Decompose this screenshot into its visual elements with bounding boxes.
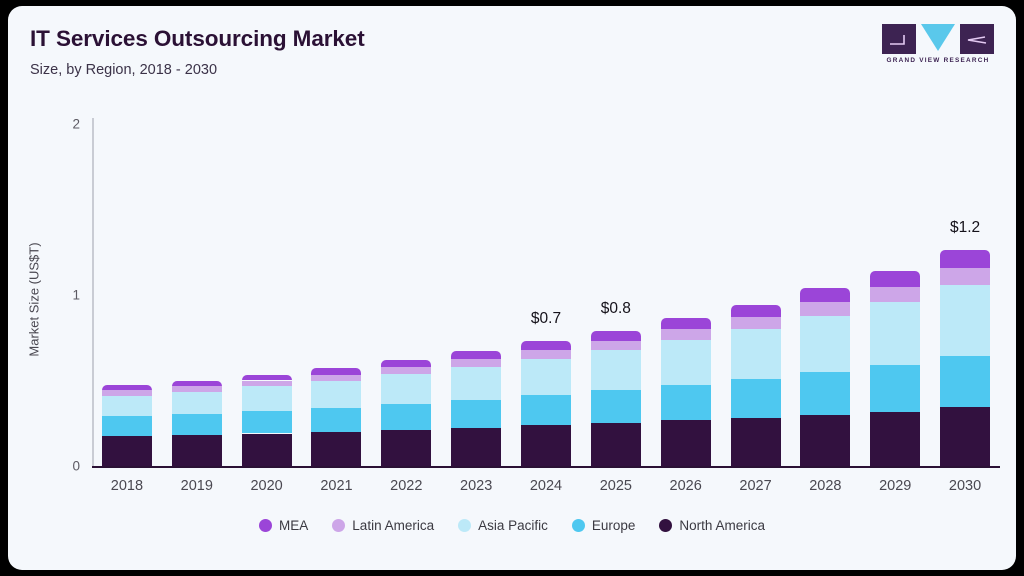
bar-segment-europe-2028[interactable] bbox=[800, 372, 850, 415]
bar-segment-asia-pacific-2019[interactable] bbox=[172, 392, 222, 415]
bar-segment-north-america-2023[interactable] bbox=[451, 428, 501, 466]
bar-segment-mea-2029[interactable] bbox=[870, 271, 920, 287]
bar-group-2026[interactable] bbox=[661, 6, 711, 468]
bar-segment-asia-pacific-2022[interactable] bbox=[381, 374, 431, 404]
legend-swatch-icon bbox=[458, 519, 471, 532]
bar-segment-north-america-2024[interactable] bbox=[521, 425, 571, 466]
bar-segment-mea-2024[interactable] bbox=[521, 341, 571, 350]
bar-segment-latin-america-2019[interactable] bbox=[172, 386, 222, 391]
bar-segment-north-america-2018[interactable] bbox=[102, 436, 152, 466]
bar-segment-europe-2023[interactable] bbox=[451, 400, 501, 428]
x-tick-label-2029: 2029 bbox=[879, 478, 911, 494]
bar-group-2023[interactable] bbox=[451, 6, 501, 468]
bar-segment-europe-2029[interactable] bbox=[870, 365, 920, 412]
bar-segment-europe-2022[interactable] bbox=[381, 404, 431, 430]
bar-segment-asia-pacific-2028[interactable] bbox=[800, 316, 850, 372]
bar-segment-north-america-2021[interactable] bbox=[311, 432, 361, 466]
x-tick-label-2030: 2030 bbox=[949, 478, 981, 494]
bar-segment-asia-pacific-2023[interactable] bbox=[451, 367, 501, 400]
bar-segment-europe-2030[interactable] bbox=[940, 356, 990, 407]
bar-segment-north-america-2030[interactable] bbox=[940, 407, 990, 466]
bar-segment-mea-2028[interactable] bbox=[800, 288, 850, 302]
legend-item-europe[interactable]: Europe bbox=[572, 518, 636, 533]
bar-segment-north-america-2029[interactable] bbox=[870, 412, 920, 466]
bar-segment-latin-america-2028[interactable] bbox=[800, 302, 850, 315]
x-tick-label-2023: 2023 bbox=[460, 478, 492, 494]
x-tick-label-2028: 2028 bbox=[809, 478, 841, 494]
x-tick-label-2021: 2021 bbox=[320, 478, 352, 494]
bar-group-2021[interactable] bbox=[311, 6, 361, 468]
bar-segment-mea-2019[interactable] bbox=[172, 381, 222, 386]
legend-label: MEA bbox=[279, 518, 308, 533]
bar-segment-latin-america-2029[interactable] bbox=[870, 287, 920, 302]
y-axis-title: Market Size (US$T) bbox=[27, 200, 42, 400]
bar-segment-asia-pacific-2020[interactable] bbox=[242, 386, 292, 411]
bar-group-2025[interactable]: $0.8 bbox=[591, 6, 641, 468]
bar-segment-mea-2025[interactable] bbox=[591, 331, 641, 341]
bar-segment-mea-2020[interactable] bbox=[242, 375, 292, 381]
bar-segment-latin-america-2018[interactable] bbox=[102, 390, 152, 395]
legend-item-north-america[interactable]: North America bbox=[659, 518, 765, 533]
legend-label: Latin America bbox=[352, 518, 434, 533]
legend-item-mea[interactable]: MEA bbox=[259, 518, 308, 533]
bar-segment-north-america-2026[interactable] bbox=[661, 420, 711, 466]
x-tick-label-2027: 2027 bbox=[739, 478, 771, 494]
bar-segment-latin-america-2027[interactable] bbox=[731, 317, 781, 329]
bar-value-label-2030: $1.2 bbox=[905, 219, 1016, 237]
bar-segment-europe-2027[interactable] bbox=[731, 379, 781, 418]
bar-value-label-2025: $0.8 bbox=[556, 300, 676, 318]
bar-group-2024[interactable]: $0.7 bbox=[521, 6, 571, 468]
legend-label: North America bbox=[679, 518, 765, 533]
bar-segment-mea-2022[interactable] bbox=[381, 360, 431, 367]
bar-segment-europe-2020[interactable] bbox=[242, 411, 292, 433]
bar-group-2019[interactable] bbox=[172, 6, 222, 468]
bar-segment-europe-2026[interactable] bbox=[661, 385, 711, 421]
chart-figure: IT Services Outsourcing Market Size, by … bbox=[8, 6, 1016, 570]
bar-group-2027[interactable] bbox=[731, 6, 781, 468]
legend-swatch-icon bbox=[572, 519, 585, 532]
bar-segment-asia-pacific-2021[interactable] bbox=[311, 381, 361, 408]
legend-swatch-icon bbox=[659, 519, 672, 532]
legend-item-latin-america[interactable]: Latin America bbox=[332, 518, 434, 533]
bar-segment-latin-america-2025[interactable] bbox=[591, 341, 641, 350]
bar-segment-europe-2021[interactable] bbox=[311, 408, 361, 432]
x-tick-label-2026: 2026 bbox=[670, 478, 702, 494]
y-axis-line bbox=[92, 118, 94, 468]
bar-segment-north-america-2022[interactable] bbox=[381, 430, 431, 466]
bar-segment-europe-2018[interactable] bbox=[102, 416, 152, 436]
bar-group-2022[interactable] bbox=[381, 6, 431, 468]
x-tick-label-2024: 2024 bbox=[530, 478, 562, 494]
bar-segment-north-america-2019[interactable] bbox=[172, 435, 222, 466]
bar-segment-latin-america-2022[interactable] bbox=[381, 367, 431, 374]
bar-segment-latin-america-2021[interactable] bbox=[311, 375, 361, 381]
bar-segment-asia-pacific-2030[interactable] bbox=[940, 285, 990, 356]
bar-segment-north-america-2020[interactable] bbox=[242, 434, 292, 466]
bar-segment-mea-2030[interactable] bbox=[940, 250, 990, 268]
bar-segment-mea-2027[interactable] bbox=[731, 305, 781, 317]
bar-segment-europe-2024[interactable] bbox=[521, 395, 571, 425]
x-tick-label-2025: 2025 bbox=[600, 478, 632, 494]
bar-segment-latin-america-2020[interactable] bbox=[242, 381, 292, 387]
bar-segment-latin-america-2026[interactable] bbox=[661, 329, 711, 340]
bar-group-2020[interactable] bbox=[242, 6, 292, 468]
y-tick-label: 2 bbox=[48, 117, 80, 132]
legend-label: Europe bbox=[592, 518, 636, 533]
x-tick-label-2020: 2020 bbox=[250, 478, 282, 494]
bar-segment-asia-pacific-2029[interactable] bbox=[870, 302, 920, 365]
y-tick-label: 0 bbox=[48, 459, 80, 474]
legend-swatch-icon bbox=[332, 519, 345, 532]
bar-group-2029[interactable] bbox=[870, 6, 920, 468]
legend-swatch-icon bbox=[259, 519, 272, 532]
bar-segment-mea-2018[interactable] bbox=[102, 385, 152, 390]
bar-segment-mea-2021[interactable] bbox=[311, 368, 361, 374]
bar-segment-latin-america-2023[interactable] bbox=[451, 359, 501, 367]
bar-segment-north-america-2028[interactable] bbox=[800, 415, 850, 466]
bar-group-2028[interactable] bbox=[800, 6, 850, 468]
chart-legend: MEALatin AmericaAsia PacificEuropeNorth … bbox=[8, 518, 1016, 533]
bar-segment-mea-2023[interactable] bbox=[451, 351, 501, 359]
bar-group-2018[interactable] bbox=[102, 6, 152, 468]
legend-label: Asia Pacific bbox=[478, 518, 548, 533]
bar-group-2030[interactable]: $1.2 bbox=[940, 6, 990, 468]
x-tick-label-2019: 2019 bbox=[181, 478, 213, 494]
bar-segment-asia-pacific-2027[interactable] bbox=[731, 329, 781, 379]
bar-segment-asia-pacific-2026[interactable] bbox=[661, 340, 711, 385]
legend-item-asia-pacific[interactable]: Asia Pacific bbox=[458, 518, 548, 533]
bar-segment-mea-2026[interactable] bbox=[661, 318, 711, 329]
bar-segment-europe-2025[interactable] bbox=[591, 390, 641, 423]
bar-segment-north-america-2025[interactable] bbox=[591, 423, 641, 466]
x-tick-label-2022: 2022 bbox=[390, 478, 422, 494]
bar-segment-asia-pacific-2025[interactable] bbox=[591, 350, 641, 390]
bar-segment-latin-america-2024[interactable] bbox=[521, 350, 571, 359]
plot-area: Market Size (US$T) 012 20182019202020212… bbox=[8, 6, 1016, 570]
y-tick-label: 1 bbox=[48, 288, 80, 303]
bar-segment-asia-pacific-2024[interactable] bbox=[521, 359, 571, 395]
bar-segment-asia-pacific-2018[interactable] bbox=[102, 396, 152, 417]
bar-segment-europe-2019[interactable] bbox=[172, 414, 222, 435]
bar-segment-latin-america-2030[interactable] bbox=[940, 268, 990, 285]
x-tick-label-2018: 2018 bbox=[111, 478, 143, 494]
bar-segment-north-america-2027[interactable] bbox=[731, 418, 781, 466]
